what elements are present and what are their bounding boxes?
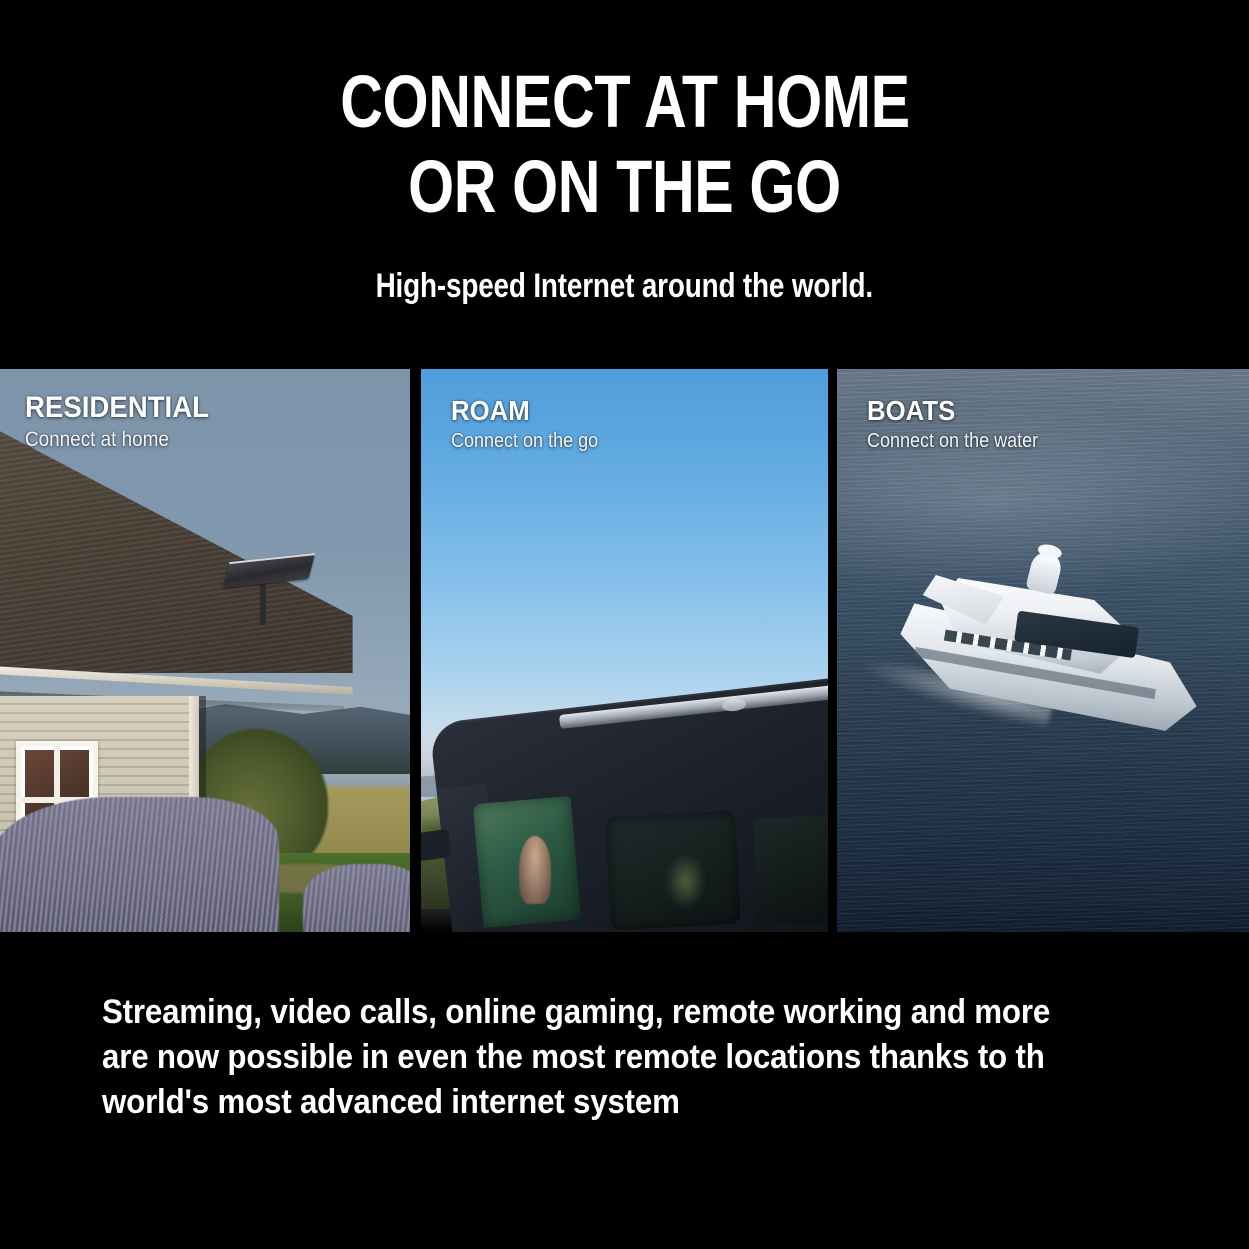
panel-title: ROAM <box>451 397 601 425</box>
lavender-bushes <box>0 797 279 932</box>
van-driver <box>519 836 552 904</box>
residential-photo <box>0 369 410 932</box>
boats-caption: BOATS Connect on the water <box>867 397 1057 451</box>
panel-strip: RESIDENTIAL Connect at home <box>0 369 1249 932</box>
roam-photo <box>421 369 828 932</box>
footer-paragraph: Streaming, video calls, online gaming, r… <box>102 990 1093 1126</box>
subheadline: High-speed Internet around the world. <box>376 267 873 306</box>
boats-photo <box>837 369 1249 932</box>
van-rear-window-2 <box>753 815 828 925</box>
panel-roam[interactable]: ROAM Connect on the go <box>421 369 828 932</box>
panel-subtitle: Connect at home <box>25 429 205 450</box>
headline-line-1: CONNECT AT HOME <box>340 66 910 139</box>
panel-title: BOATS <box>867 397 1042 425</box>
panel-subtitle: Connect on the go <box>451 431 598 451</box>
dish-mast <box>260 580 266 625</box>
panel-title: RESIDENTIAL <box>25 393 209 423</box>
van-side-mirror <box>421 829 451 861</box>
panel-residential[interactable]: RESIDENTIAL Connect at home <box>0 369 410 932</box>
promo-poster: CONNECT AT HOME OR ON THE GO High-speed … <box>0 0 1249 1249</box>
lavender-bush-right <box>303 864 410 932</box>
panel-subtitle: Connect on the water <box>867 431 1038 451</box>
residential-caption: RESIDENTIAL Connect at home <box>25 393 225 450</box>
roam-caption: ROAM Connect on the go <box>451 397 614 451</box>
panel-boats[interactable]: BOATS Connect on the water <box>837 369 1249 932</box>
header-block: CONNECT AT HOME OR ON THE GO High-speed … <box>0 0 1249 369</box>
footer-block: Streaming, video calls, online gaming, r… <box>0 932 1249 1249</box>
headline-line-2: OR ON THE GO <box>408 151 841 224</box>
van-window-reflection <box>665 853 706 909</box>
